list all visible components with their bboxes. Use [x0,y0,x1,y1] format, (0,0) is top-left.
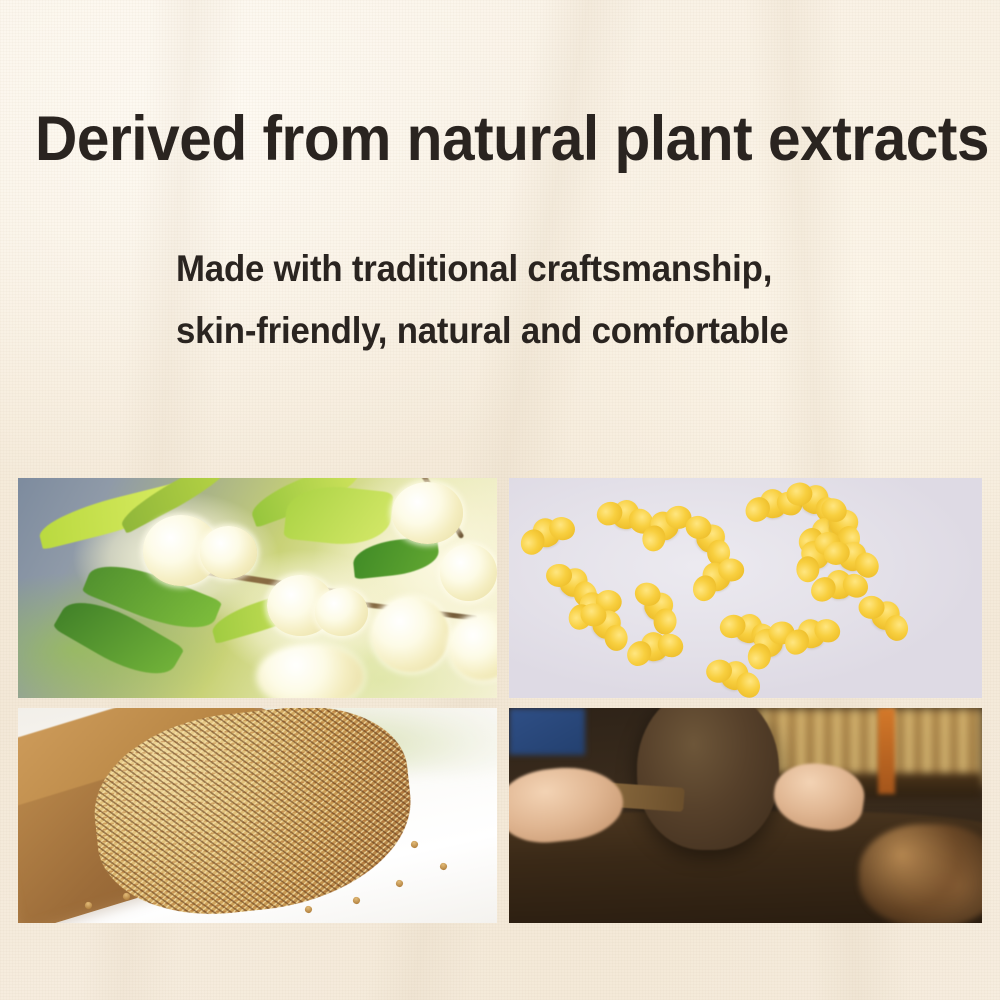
loose-crumb [438,862,447,871]
loose-crumb [304,905,313,914]
shelf-post [878,708,895,794]
photo-loose-blossoms [509,478,982,698]
flower-cluster [258,645,363,698]
flower-cluster [200,526,257,579]
blossom [757,487,788,520]
flower-cluster [440,544,497,601]
photo-dried-flowers-scoop [18,708,497,923]
blossom [610,497,643,531]
photo-grid [18,478,982,923]
subtitle-line-1: Made with traditional craftsmanship, [176,238,853,300]
dried-flower-pile [85,708,420,923]
blossom [793,615,828,651]
flower-cluster [372,597,449,672]
blossom [824,569,853,600]
flower-cluster [392,482,464,544]
dried-flower-texture [85,708,420,923]
flower-cluster [449,614,497,680]
blossom [697,557,735,596]
flower-cluster [315,588,368,636]
blossom [640,588,678,626]
product-feature-banner: Derived from natural plant extracts Made… [0,0,1000,1000]
blossom [528,513,564,550]
subtitle-line-2: skin-friendly, natural and comfortable [176,300,853,362]
blossom [836,538,871,574]
blossom [645,506,684,545]
blossom [692,519,731,557]
blossom [588,605,627,644]
photo-osmanthus-branch [18,478,497,698]
worker-sleeve [509,708,585,755]
page-title: Derived from natural plant extracts [35,104,965,174]
blossom [867,596,906,635]
ground-material [859,824,982,923]
grinding-wheel [637,708,779,850]
photo-stone-mill-grinding [509,708,982,923]
subtitle-block: Made with traditional craftsmanship, ski… [176,238,896,362]
